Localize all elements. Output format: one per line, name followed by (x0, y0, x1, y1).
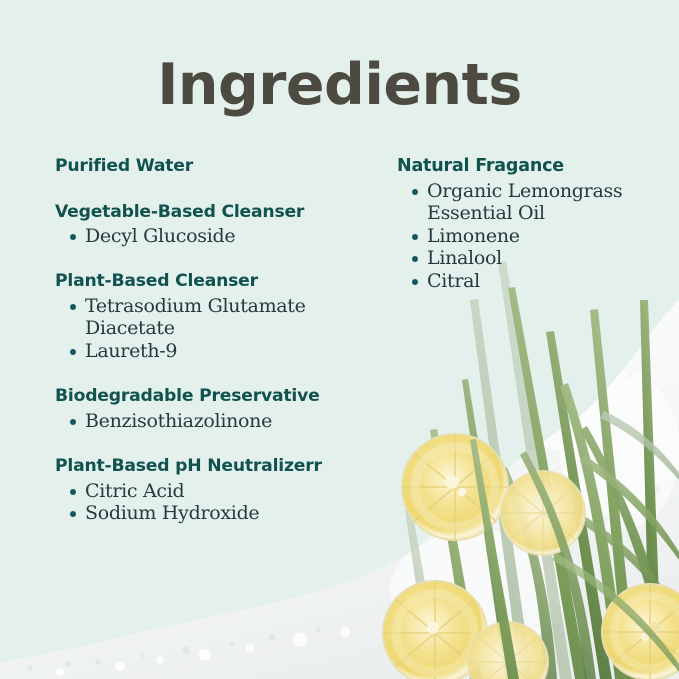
list-item: Limonene (411, 225, 657, 247)
section-heading: Plant-Based pH Neutralizerr (55, 456, 385, 478)
ingredient-list: Citric Acid Sodium Hydroxide (55, 480, 385, 525)
ingredient-section: Plant-Based pH Neutralizerr Citric Acid … (55, 456, 385, 524)
list-item: Citric Acid (69, 480, 385, 502)
lemon-slice-group (383, 432, 679, 679)
ingredients-poster: Ingredients Purified Water Vegetable-Bas… (0, 0, 679, 679)
ingredients-column-left: Purified Water Vegetable-Based Cleanser … (55, 156, 385, 524)
ingredient-section: Natural Fragance Organic Lemongrass Esse… (397, 156, 657, 292)
list-item: Organic Lemongrass Essential Oil (411, 180, 657, 225)
list-item: Citral (411, 270, 657, 292)
section-heading: Purified Water (55, 156, 385, 178)
list-item: Benzisothiazolinone (69, 410, 385, 432)
ingredient-section: Purified Water (55, 156, 385, 178)
list-item: Decyl Glucoside (69, 225, 385, 247)
page-title: Ingredients (0, 52, 679, 118)
section-heading: Natural Fragance (397, 156, 657, 178)
ingredient-list: Benzisothiazolinone (55, 410, 385, 432)
ingredient-section: Plant-Based Cleanser Tetrasodium Glutama… (55, 271, 385, 362)
list-item: Laureth-9 (69, 340, 385, 362)
ingredient-list: Decyl Glucoside (55, 225, 385, 247)
section-heading: Vegetable-Based Cleanser (55, 202, 385, 224)
section-heading: Biodegradable Preservative (55, 386, 385, 408)
ingredient-section: Vegetable-Based Cleanser Decyl Glucoside (55, 202, 385, 248)
list-item: Tetrasodium Glutamate Diacetate (69, 295, 385, 340)
ingredient-list: Organic Lemongrass Essential Oil Limonen… (397, 180, 657, 292)
list-item: Sodium Hydroxide (69, 502, 385, 524)
ingredient-list: Tetrasodium Glutamate Diacetate Laureth-… (55, 295, 385, 362)
ingredient-section: Biodegradable Preservative Benzisothiazo… (55, 386, 385, 432)
section-heading: Plant-Based Cleanser (55, 271, 385, 293)
ingredients-column-right: Natural Fragance Organic Lemongrass Esse… (397, 156, 657, 292)
list-item: Linalool (411, 247, 657, 269)
